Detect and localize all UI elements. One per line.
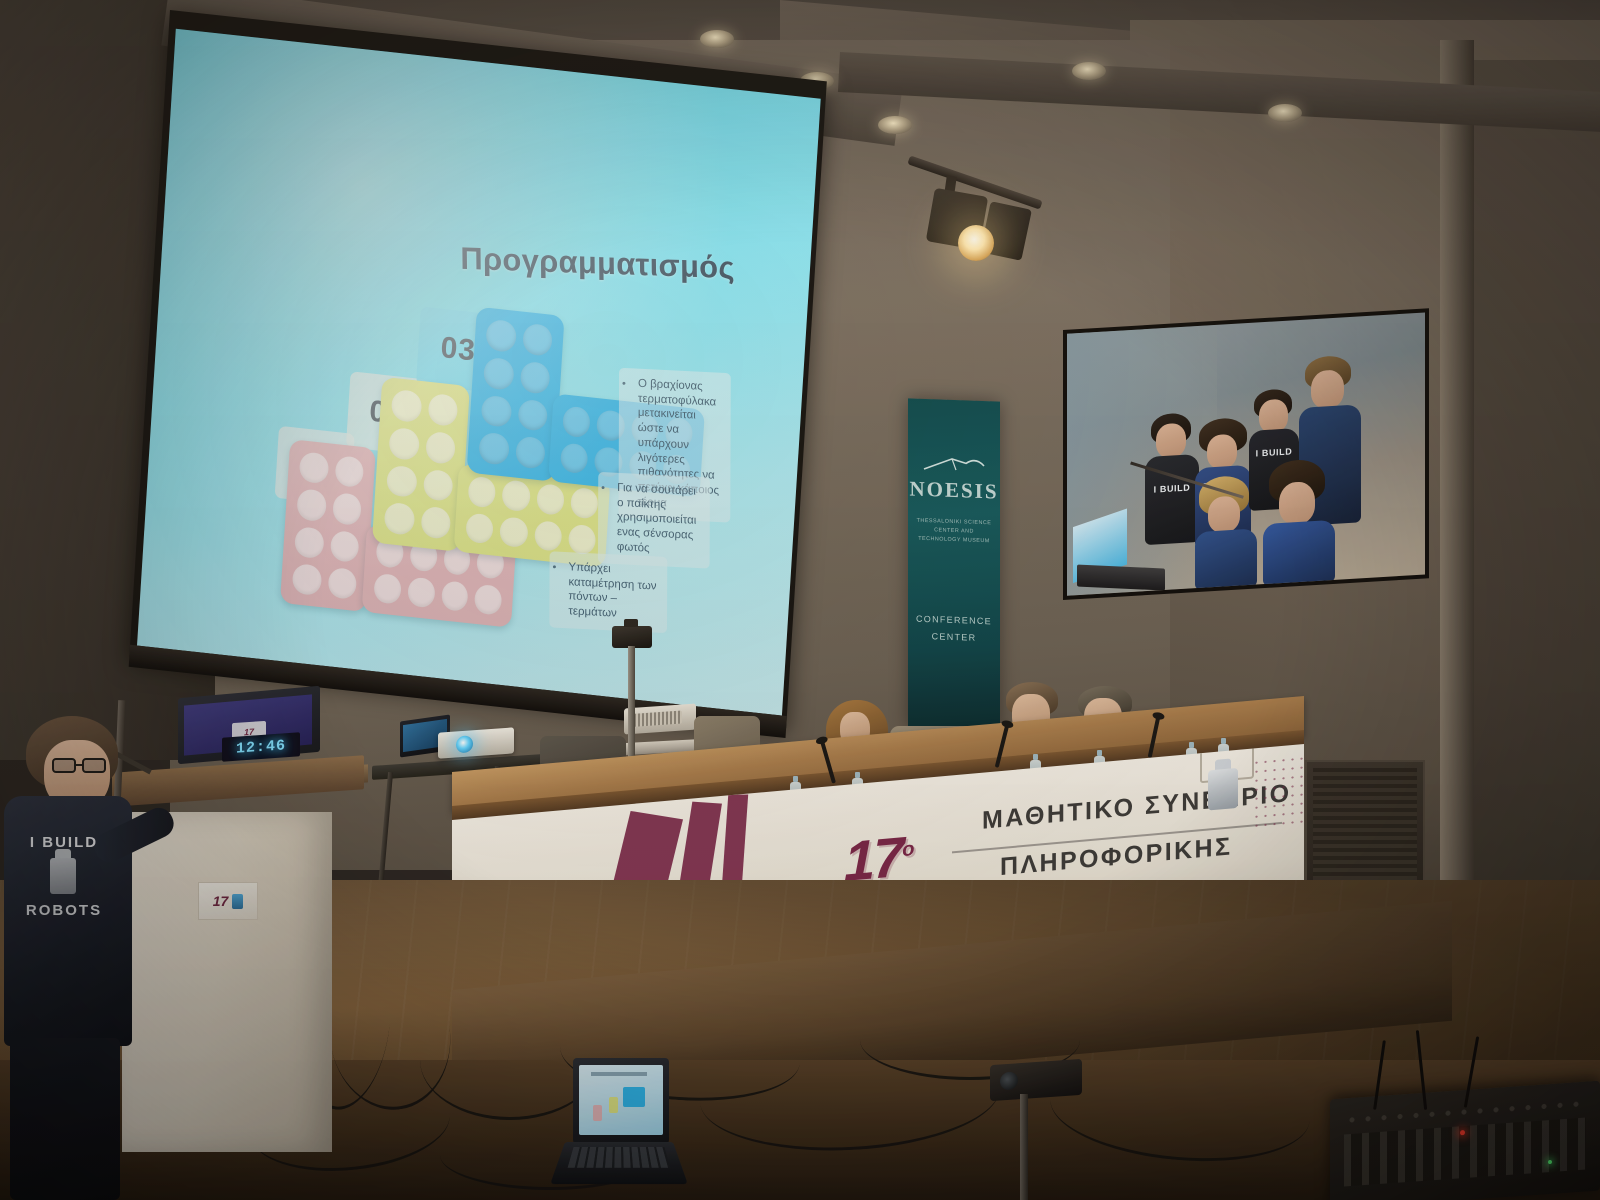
shirt-robot-icon xyxy=(50,858,76,894)
eyeglasses-icon xyxy=(52,758,112,773)
downlight-icon xyxy=(878,116,912,134)
side-video-display: I BUILD ROBOTS I BUILD xyxy=(1063,308,1429,600)
auditorium-scene: Προγραμματισμός 01 02 03 • Ο βραχίονας τ… xyxy=(0,0,1600,1200)
projection-screen: Προγραμματισμός 01 02 03 • Ο βραχίονας τ… xyxy=(129,10,827,740)
edition-suffix: o xyxy=(902,838,912,861)
screen-vignette xyxy=(137,29,821,716)
corner-column xyxy=(1440,40,1474,1000)
mirrored-brick-yellow xyxy=(609,1097,618,1113)
laptop-base xyxy=(550,1142,688,1184)
noesis-dome-icon xyxy=(922,451,986,475)
mirrored-slide-title-bar xyxy=(591,1072,647,1076)
podium-sticker-number: 17 xyxy=(213,893,229,909)
podium-sticker: 17 xyxy=(198,882,258,920)
downlight-icon xyxy=(1268,104,1302,122)
floor-camera xyxy=(990,1059,1082,1101)
laptop-screen-slide-mirror xyxy=(579,1065,663,1135)
robot-icon xyxy=(1208,768,1238,811)
camera-pole xyxy=(1020,1094,1028,1200)
banner-dot-pattern xyxy=(1252,754,1304,831)
video-laptop xyxy=(1073,514,1165,591)
banner-title-line-2: ΠΛΗΡΟΦΟΡΙΚΗΣ xyxy=(1000,832,1232,882)
laptop-keyboard[interactable] xyxy=(568,1147,671,1168)
confidence-monitor-laptop[interactable] xyxy=(565,1058,673,1186)
video-projector xyxy=(438,727,514,758)
mixer-faders[interactable] xyxy=(1344,1118,1586,1187)
video-camera xyxy=(612,626,652,648)
student-figure xyxy=(1263,458,1335,586)
spotlight-lamp-icon xyxy=(958,225,994,261)
podium xyxy=(122,812,332,1152)
screen-surface: Προγραμματισμός 01 02 03 • Ο βραχίονας τ… xyxy=(137,29,821,716)
noesis-facility-label: CONFERENCE CENTER xyxy=(908,610,1000,647)
projector-lens-icon xyxy=(456,735,473,753)
downlight-icon xyxy=(700,30,734,48)
video-laptop-base xyxy=(1077,565,1165,591)
downlight-icon xyxy=(1072,62,1106,80)
legs xyxy=(10,1038,120,1200)
tripod-pole xyxy=(628,646,635,768)
display-picture: I BUILD ROBOTS I BUILD xyxy=(1067,312,1425,595)
noesis-wordmark: NOESIS xyxy=(908,476,1000,504)
camera-lens-icon xyxy=(1000,1071,1018,1090)
student-presenter: I BUILD ROBOTS xyxy=(0,716,130,1200)
noesis-subtitle: THESSALONIKI SCIENCE CENTER AND TECHNOLO… xyxy=(916,517,992,547)
mirrored-brick-blue xyxy=(623,1087,645,1107)
podium-sticker-robot-icon xyxy=(232,894,243,909)
mirrored-brick-pink xyxy=(593,1105,602,1121)
countdown-timer-value: 12:46 xyxy=(236,737,286,757)
presenter-shirt-line-2: ROBOTS xyxy=(0,902,128,919)
wall-vent-grille xyxy=(1305,760,1425,890)
